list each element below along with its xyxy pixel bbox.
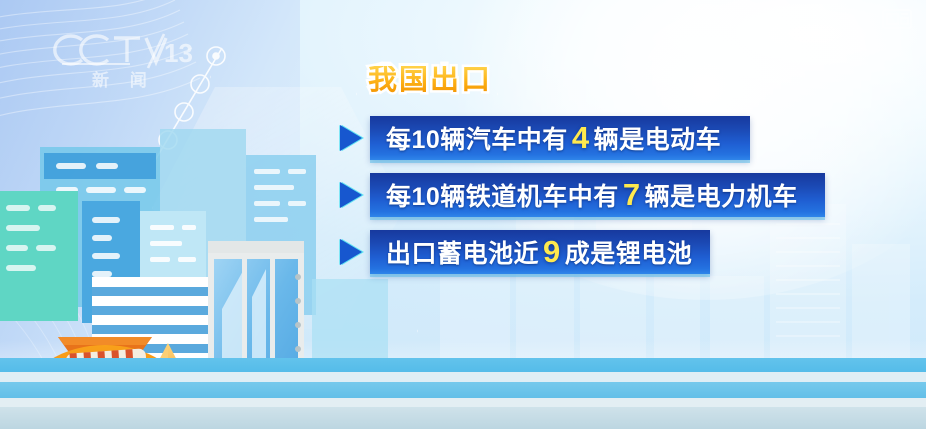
bottom-band-cyan-1 [0, 358, 926, 372]
stat-panel: 我国出口 我国出口 每10辆汽车中有4辆是电动车 每10辆铁道机车中有7辆是电力… [340, 66, 880, 277]
stat-row[interactable]: 每10辆汽车中有4辆是电动车 [340, 116, 880, 163]
svg-text:13: 13 [164, 38, 192, 68]
play-triangle-icon [340, 125, 362, 151]
stat-bar[interactable]: 每10辆汽车中有4辆是电动车 [370, 116, 750, 160]
tv-frame-watermark-icon [882, 8, 912, 30]
stat-bar[interactable]: 出口蓄电池近9成是锂电池 [370, 230, 710, 274]
panel-kicker: 我国出口 我国出口 [340, 66, 880, 106]
play-triangle-icon [340, 239, 362, 265]
stat-number: 9 [539, 234, 565, 269]
stat-number: 7 [619, 177, 645, 212]
cctv13-logo: 13 新 闻 [52, 28, 192, 90]
bottom-band-gray [0, 407, 926, 429]
stat-number: 4 [568, 120, 594, 155]
play-triangle-icon [340, 182, 362, 208]
bottom-band-light-1 [0, 372, 926, 382]
broadcast-graphic: 13 新 闻 我国出口 我国出口 每10辆汽车中有4辆是电动车 [0, 0, 926, 429]
cctv-logo-subtitle: 新 闻 [92, 70, 155, 90]
stat-row[interactable]: 每10辆铁道机车中有7辆是电力机车 [340, 173, 880, 220]
stat-text: 每10辆汽车中有4辆是电动车 [370, 120, 735, 156]
bottom-band-light-2 [0, 398, 926, 407]
stat-row[interactable]: 出口蓄电池近9成是锂电池 [340, 230, 880, 277]
stat-text: 每10辆铁道机车中有7辆是电力机车 [370, 177, 812, 213]
panel-kicker-text: 我国出口 [368, 66, 492, 95]
stat-text: 出口蓄电池近9成是锂电池 [370, 234, 706, 270]
stat-bar[interactable]: 每10辆铁道机车中有7辆是电力机车 [370, 173, 825, 217]
bottom-band-cyan-2 [0, 382, 926, 398]
